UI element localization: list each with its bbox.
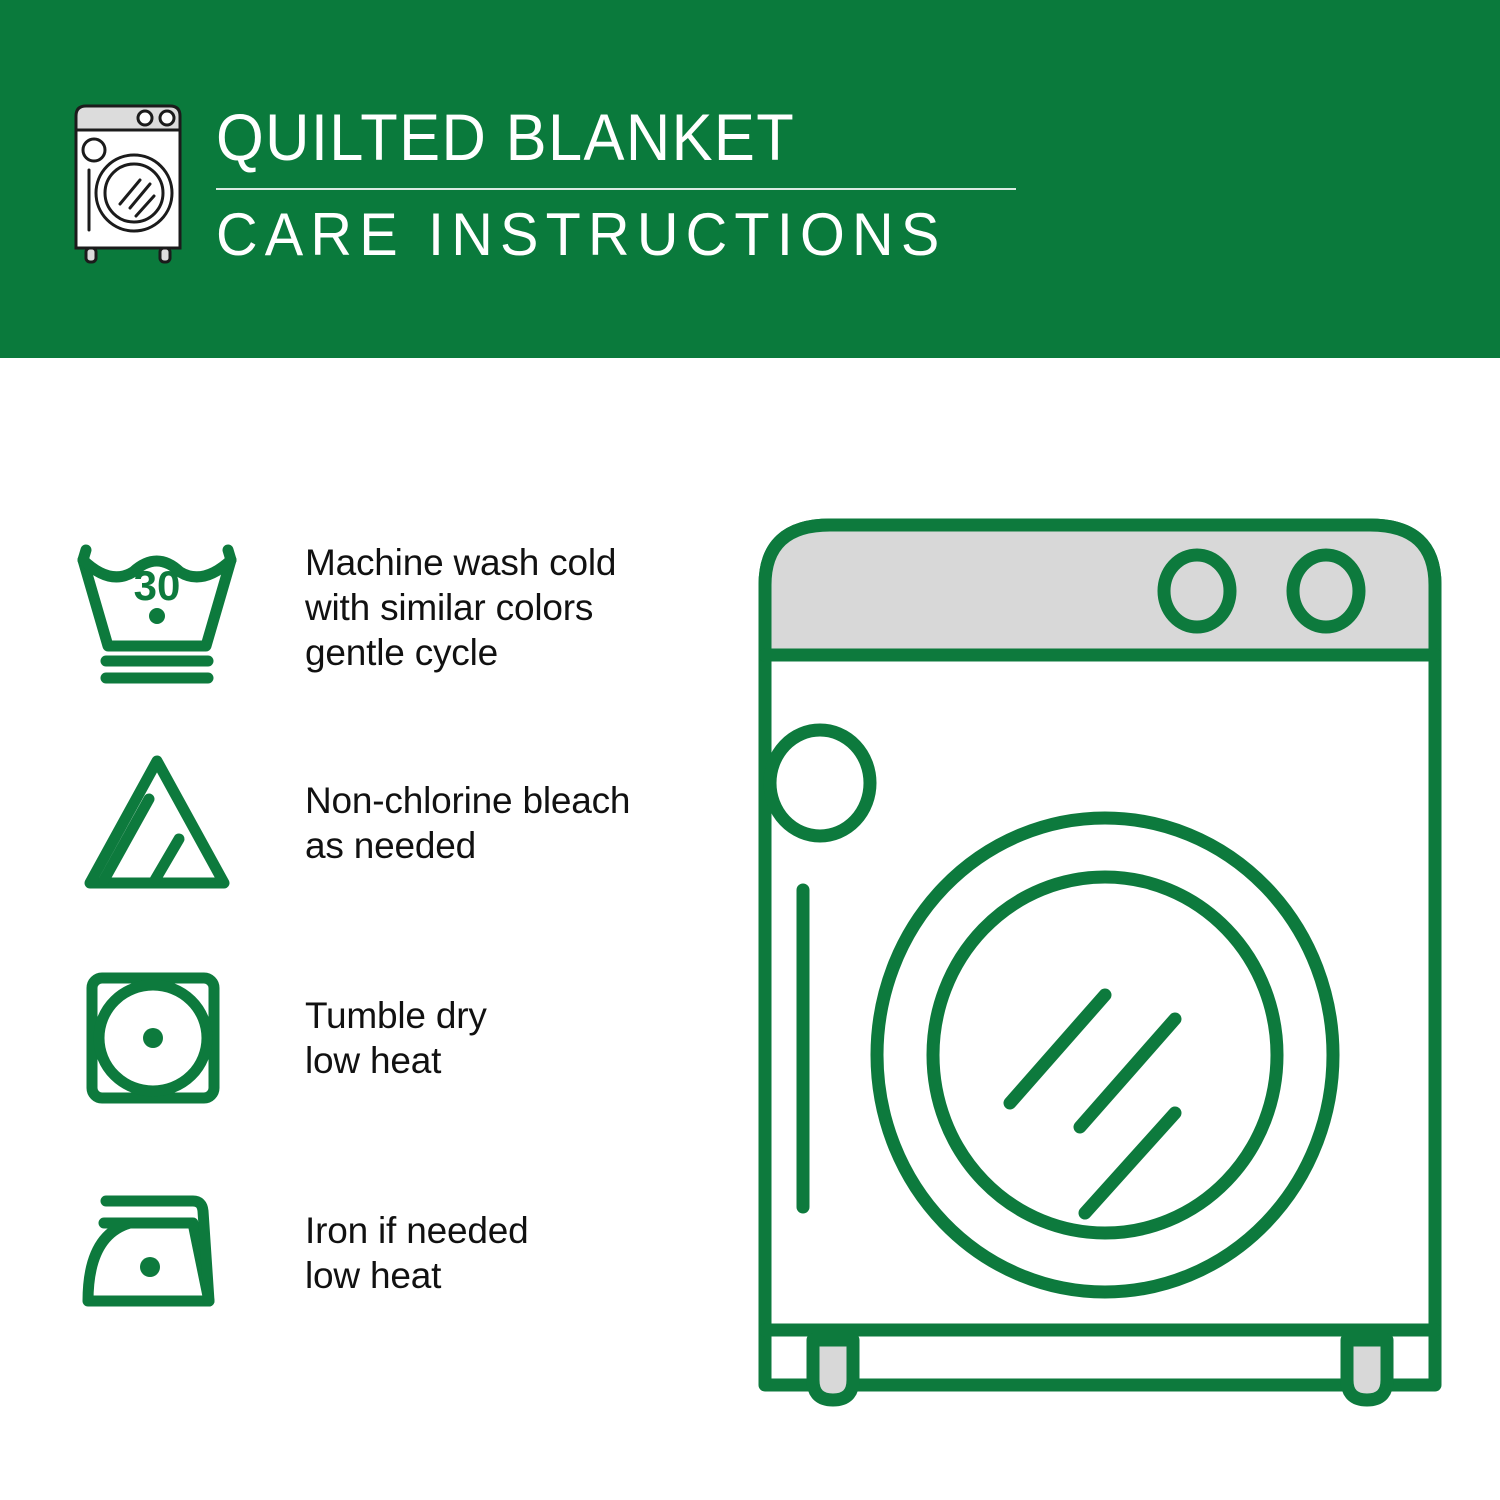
- wash-temperature-label: 30: [134, 562, 181, 609]
- header-banner: QUILTED BLANKET CARE INSTRUCTIONS: [0, 0, 1500, 358]
- care-text: Iron if needed low heat: [305, 1208, 528, 1298]
- detergent-dispenser: [770, 730, 870, 836]
- care-row: Non-chlorine bleach as needed: [70, 715, 710, 930]
- machine-leg: [813, 1340, 853, 1400]
- non-chlorine-bleach-triangle-icon: [70, 743, 245, 903]
- care-row: Tumble dry low heat: [70, 930, 710, 1145]
- front-load-washing-machine-illustration: [735, 495, 1465, 1425]
- page-subtitle: CARE INSTRUCTIONS: [216, 202, 984, 268]
- washing-machine-icon: [62, 96, 194, 264]
- care-text: Tumble dry low heat: [305, 993, 487, 1083]
- care-text-line: Non-chlorine bleach: [305, 778, 630, 823]
- care-text-line: low heat: [305, 1038, 487, 1083]
- control-knob: [1164, 555, 1230, 627]
- tumble-dry-low-icon: [70, 958, 245, 1118]
- care-text: Machine wash cold with similar colors ge…: [305, 540, 616, 675]
- machine-leg: [1347, 1340, 1387, 1400]
- care-text-line: low heat: [305, 1253, 528, 1298]
- care-text-line: with similar colors: [305, 585, 616, 630]
- header-content: QUILTED BLANKET CARE INSTRUCTIONS: [62, 96, 1016, 268]
- care-text-line: Machine wash cold: [305, 540, 616, 585]
- wash-tub-30-gentle-icon: 30: [70, 528, 245, 688]
- care-instruction-list: 30 Machine wash cold with similar colors…: [70, 500, 710, 1360]
- title-block: QUILTED BLANKET CARE INSTRUCTIONS: [216, 96, 1016, 268]
- care-text: Non-chlorine bleach as needed: [305, 778, 630, 868]
- care-row: Iron if needed low heat: [70, 1145, 710, 1360]
- care-text-line: gentle cycle: [305, 630, 616, 675]
- care-row: 30 Machine wash cold with similar colors…: [70, 500, 710, 715]
- page-title: QUILTED BLANKET: [216, 100, 960, 174]
- care-text-line: Iron if needed: [305, 1208, 528, 1253]
- title-divider: [216, 188, 1016, 190]
- care-text-line: as needed: [305, 823, 630, 868]
- control-knob: [1293, 555, 1359, 627]
- care-text-line: Tumble dry: [305, 993, 487, 1038]
- iron-low-heat-icon: [70, 1173, 245, 1333]
